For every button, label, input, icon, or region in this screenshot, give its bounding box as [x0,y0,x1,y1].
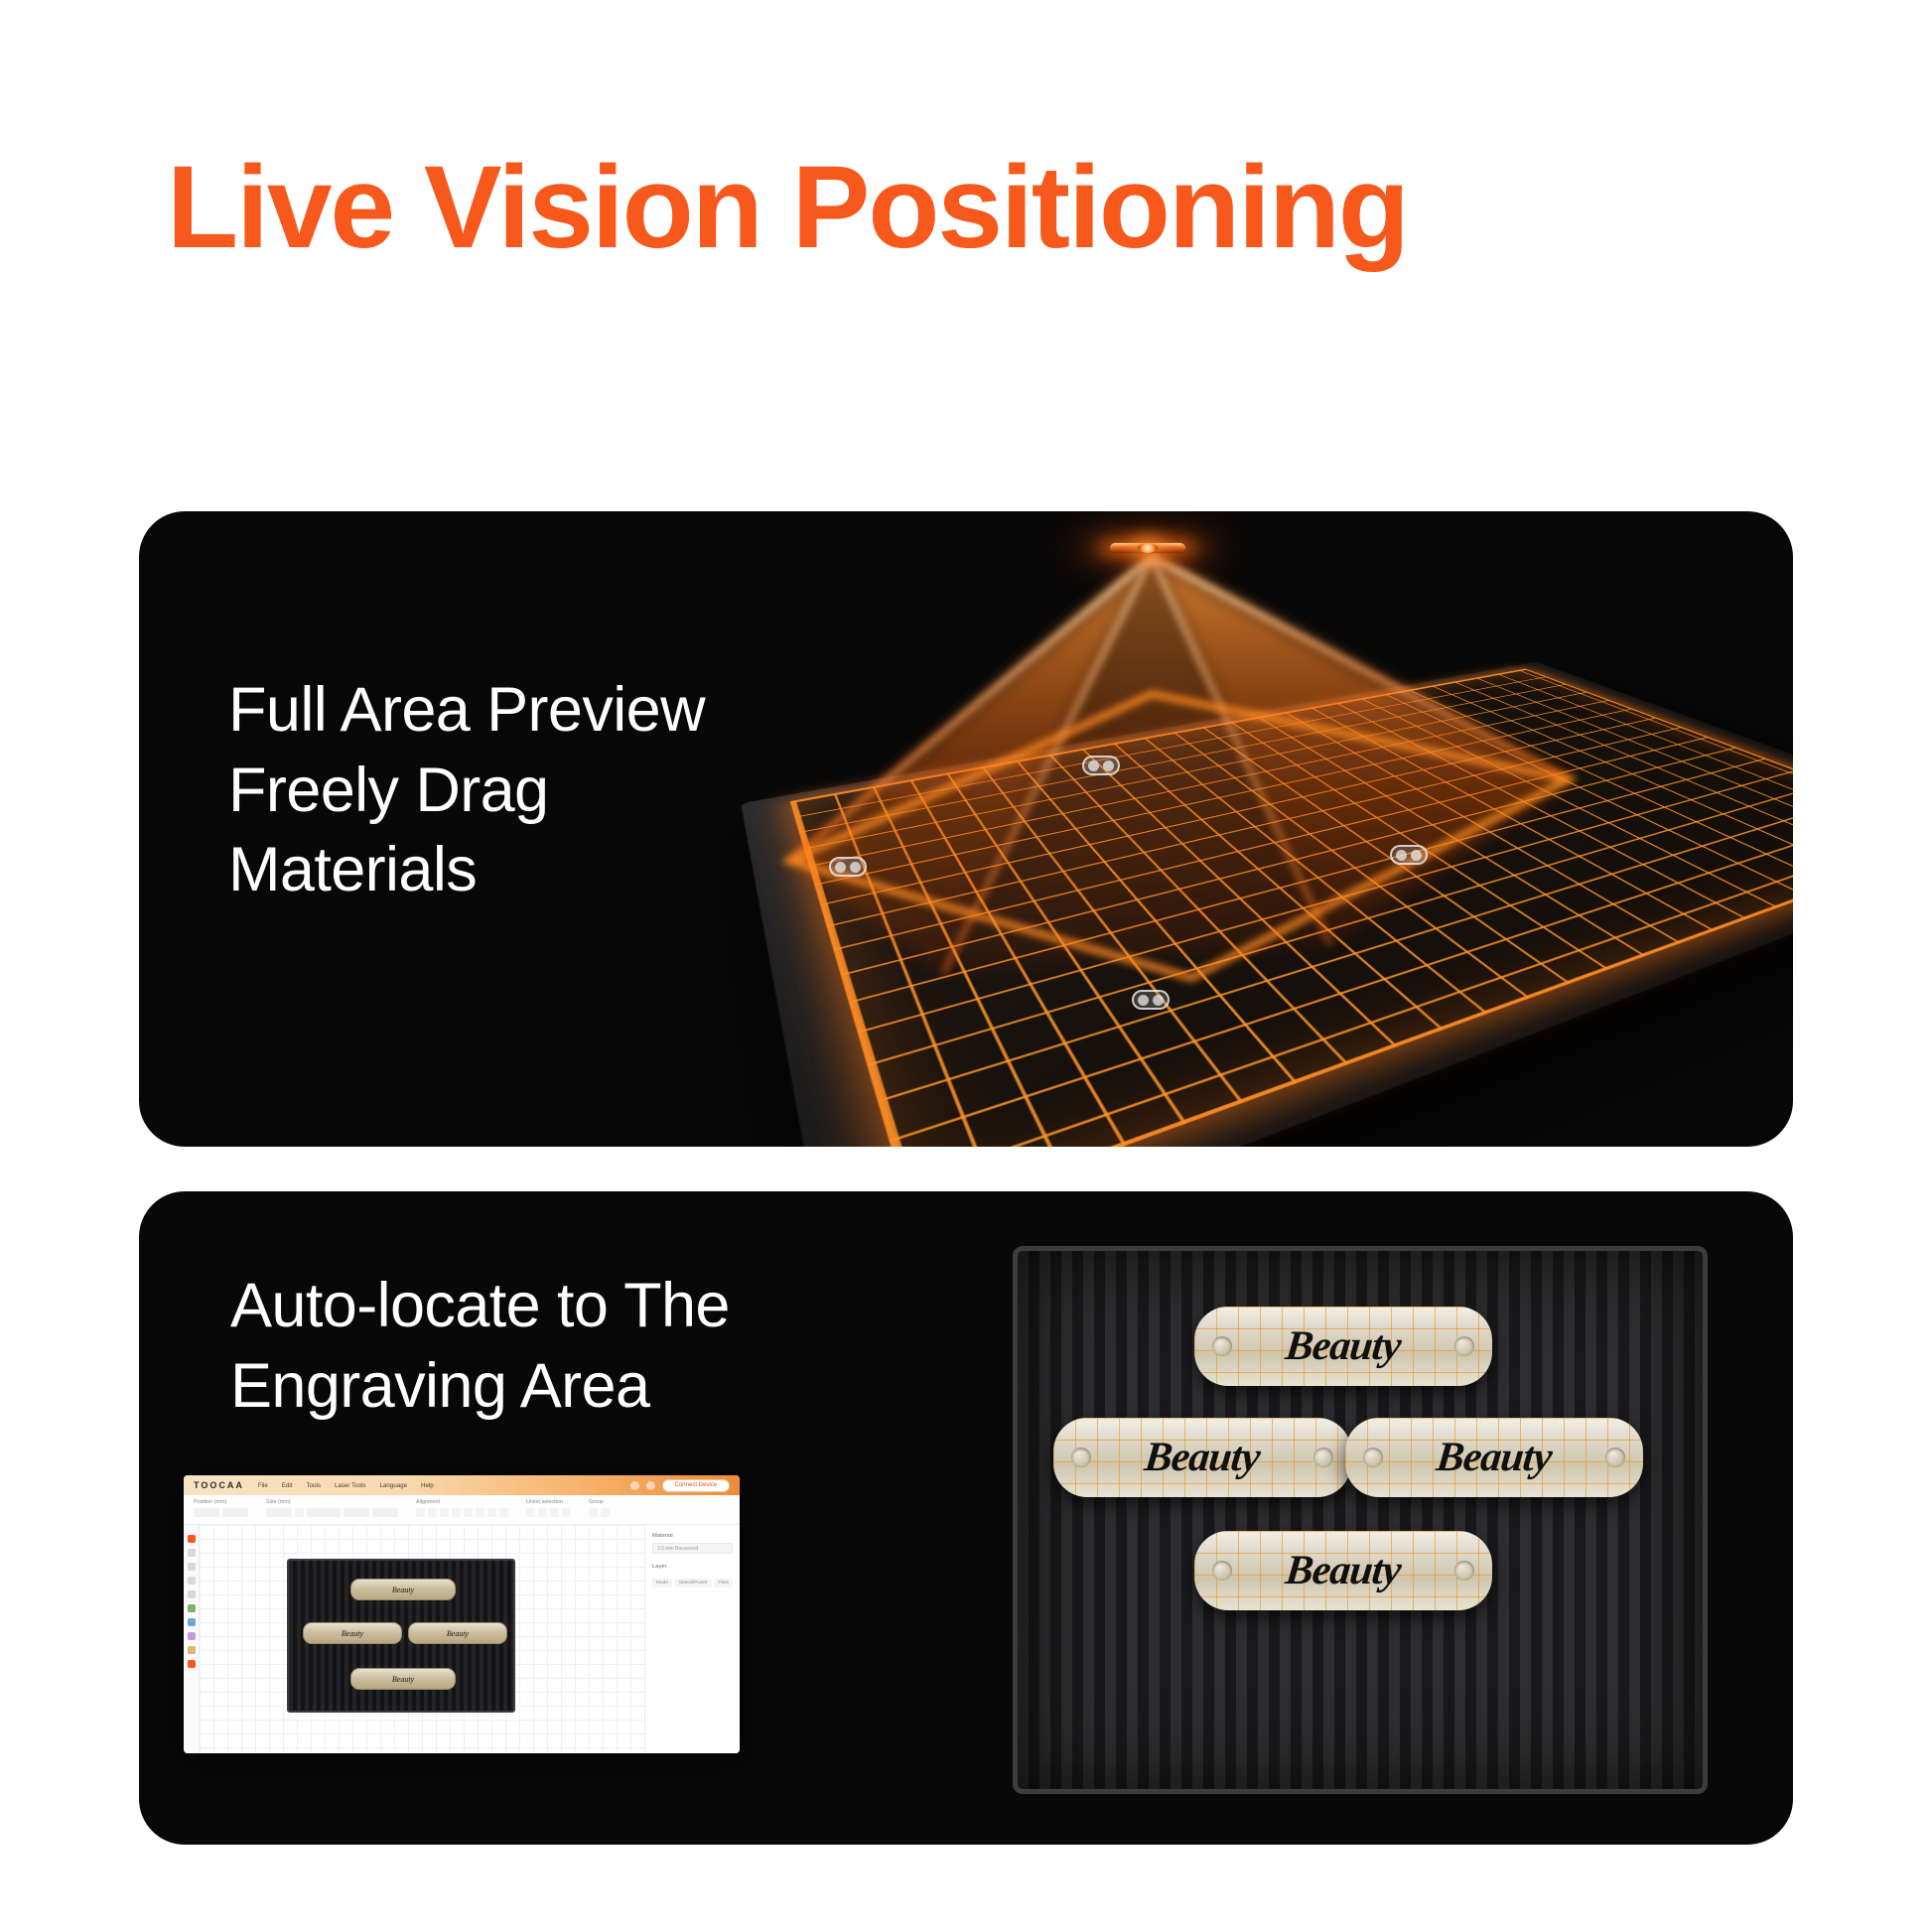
plate-hole-icon [1605,1448,1625,1467]
toocaa-app-screenshot: TOOCAA File Edit Tools Laser Tools Langu… [184,1475,740,1753]
align-left-icon[interactable] [416,1508,425,1517]
position-x-input[interactable] [194,1508,219,1517]
layer-column-mode: Mode [652,1579,672,1587]
engraved-plate: Beauty [1053,1418,1351,1497]
tool-rail [184,1525,200,1753]
app-menubar: TOOCAA File Edit Tools Laser Tools Langu… [184,1475,740,1495]
bed-marker-icon [829,857,867,877]
design-canvas[interactable]: Beauty Beauty Beauty Beauty [200,1525,644,1753]
app-toolbar: Position (mm) Size (mm) Alignment [184,1495,740,1525]
engraving-bed-grid [790,669,1793,1147]
menu-item-tools[interactable]: Tools [307,1482,321,1489]
union-selection-label: Union selection [526,1499,571,1505]
bed-marker-icon [1082,756,1120,775]
gear-icon[interactable] [630,1481,639,1490]
plate-text: Beauty [1284,1322,1403,1370]
size-w-input[interactable] [266,1508,292,1517]
position-group: Position (mm) [194,1499,248,1517]
engraved-plates-photo: Beauty Beauty Beauty Beauty [1013,1246,1708,1794]
panel-full-area-preview: Full Area Preview Freely Drag Materials [139,511,1793,1147]
bell-icon[interactable] [646,1481,655,1490]
group-group: Group [589,1499,610,1517]
union-group: Union selection [526,1499,571,1517]
properties-panel: Material 3.0 mm Basswood Layer Mode Spee… [644,1525,740,1753]
engraved-plate: Beauty [1194,1531,1492,1610]
group-icon[interactable] [589,1508,598,1517]
plate-text: Beauty [1435,1434,1554,1481]
size-h-input[interactable] [307,1508,341,1517]
plate-text: Beauty [1284,1547,1403,1594]
engraved-plate: Beauty [1194,1307,1492,1386]
size-label: Size (mm) [266,1499,398,1505]
menu-item-help[interactable]: Help [421,1482,434,1489]
ungroup-icon[interactable] [601,1508,610,1517]
plate-hole-icon [1363,1448,1383,1467]
distribute-h-icon[interactable] [487,1508,496,1517]
app-body: Beauty Beauty Beauty Beauty Material 3.0… [184,1525,740,1753]
canvas-plate[interactable]: Beauty [303,1622,402,1644]
effects-tool-icon[interactable] [188,1632,196,1640]
alignment-label: Alignment [416,1499,508,1505]
align-top-icon[interactable] [452,1508,461,1517]
layer-columns: Mode Speed/Power Pass [652,1579,733,1587]
plate-hole-icon [1071,1448,1091,1467]
laser-camera-module-icon [1102,529,1193,569]
canvas-plate[interactable]: Beauty [350,1579,456,1600]
text-tool-icon[interactable] [188,1563,196,1571]
library-tool-icon[interactable] [188,1604,196,1612]
distribute-v-icon[interactable] [499,1508,508,1517]
align-bottom-icon[interactable] [476,1508,484,1517]
canvas-material-tray: Beauty Beauty Beauty Beauty [287,1559,515,1713]
group-label: Group [589,1499,610,1505]
connect-device-button[interactable]: Connect Device [662,1479,730,1492]
camera-tool-icon[interactable] [188,1646,196,1654]
material-label: Material [652,1533,733,1539]
alignment-group: Alignment [416,1499,508,1517]
camera-lens-icon [1138,543,1158,553]
layer-column-speed: Speed/Power [675,1579,712,1587]
menu-item-file[interactable]: File [258,1482,268,1489]
align-center-v-icon[interactable] [464,1508,473,1517]
engraved-plate: Beauty [1345,1418,1643,1497]
menu-item-language[interactable]: Language [379,1482,407,1489]
union-icon[interactable] [526,1508,535,1517]
panel-auto-locate: Auto-locate to The Engraving Area TOOCAA… [139,1191,1793,1845]
plate-hole-icon [1212,1336,1232,1356]
plate-hole-icon [1212,1561,1232,1581]
exclude-icon[interactable] [562,1508,571,1517]
layer-label: Layer [652,1564,667,1570]
scale-input[interactable] [372,1508,398,1517]
canvas-plate[interactable]: Beauty [350,1668,456,1690]
panel-one-heading: Full Area Preview Freely Drag Materials [228,670,705,910]
layer-header: Layer [652,1564,733,1574]
bed-marker-icon [1132,990,1170,1010]
align-center-h-icon[interactable] [428,1508,437,1517]
frame-tool-icon[interactable] [188,1618,196,1626]
bed-marker-icon [1390,845,1428,865]
size-group: Size (mm) [266,1499,398,1517]
subtract-icon[interactable] [538,1508,547,1517]
settings-tool-icon[interactable] [188,1660,196,1668]
position-label: Position (mm) [194,1499,248,1505]
image-tool-icon[interactable] [188,1590,196,1598]
layer-column-pass: Pass [714,1579,733,1587]
plate-hole-icon [1313,1448,1333,1467]
laser-bed-scene [695,511,1793,1147]
plate-hole-icon [1454,1561,1474,1581]
page-title: Live Vision Positioning [167,149,1795,266]
panel-two-heading: Auto-locate to The Engraving Area [230,1266,730,1426]
canvas-plate[interactable]: Beauty [408,1622,507,1644]
rotate-input[interactable] [344,1508,369,1517]
pen-tool-icon[interactable] [188,1577,196,1585]
intersect-icon[interactable] [550,1508,559,1517]
menu-item-edit[interactable]: Edit [282,1482,293,1489]
plate-text: Beauty [1143,1434,1262,1481]
lock-aspect-icon[interactable] [295,1508,304,1517]
material-select[interactable]: 3.0 mm Basswood [652,1543,733,1554]
app-brand-logo: TOOCAA [194,1480,244,1490]
select-tool-icon[interactable] [188,1535,196,1543]
plate-hole-icon [1454,1336,1474,1356]
align-right-icon[interactable] [440,1508,449,1517]
shape-tool-icon[interactable] [188,1549,196,1557]
position-y-input[interactable] [222,1508,248,1517]
menu-item-laser-tools[interactable]: Laser Tools [335,1482,366,1489]
